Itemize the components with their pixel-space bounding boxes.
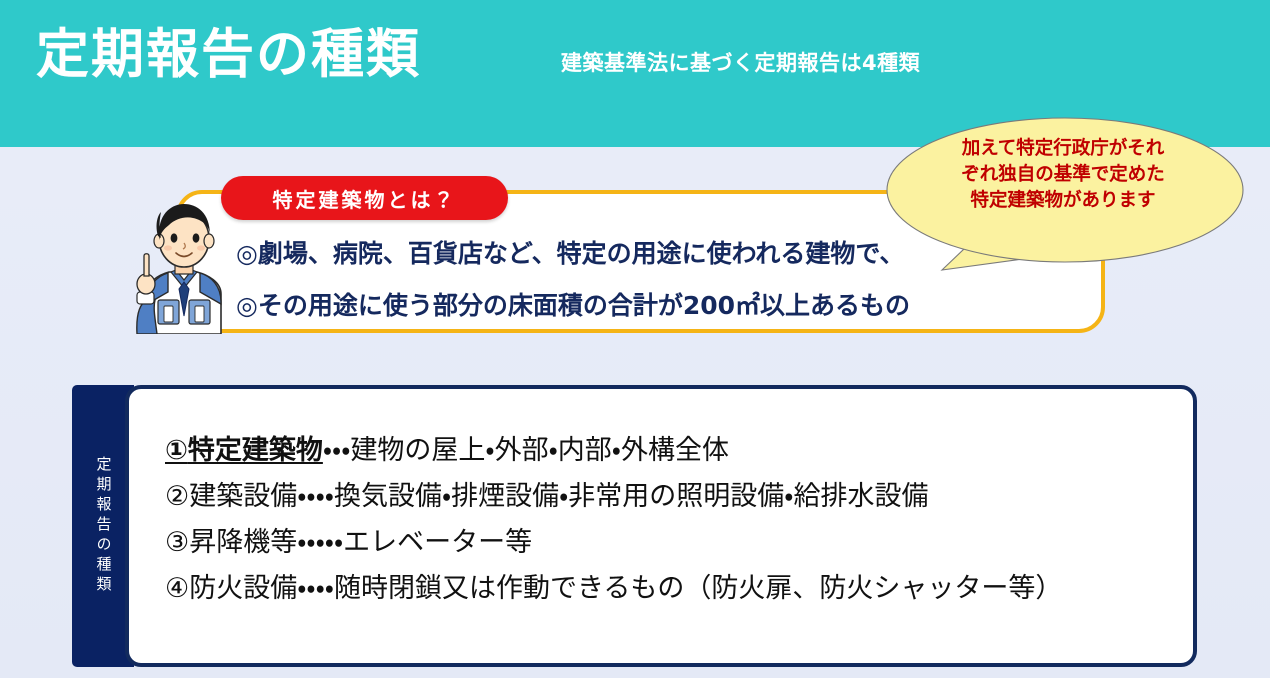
header-subtitle: 建築基準法に基づく定期報告は4種類 xyxy=(561,47,920,77)
report-types-list: ①特定建築物・・・建物の屋上・外部・内部・外構全体 ②建築設備・・・・換気設備・… xyxy=(165,428,1185,612)
list-item-number: ① xyxy=(165,435,188,466)
list-item: ③昇降機等・・・・・エレベーター等 xyxy=(165,520,1185,566)
list-item: ④防火設備・・・・随時閉鎖又は作動できるもの（防火扉、防火シャッター等） xyxy=(165,566,1185,612)
callout-line-1: 加えて特定行政庁がそれ xyxy=(910,136,1216,162)
list-item-rest: 建築設備・・・・換気設備・排煙設備・非常用の照明設備・給排水設備 xyxy=(189,481,928,512)
callout-bubble: 加えて特定行政庁がそれ ぞれ独自の基準で定めた 特定建築物があります xyxy=(880,108,1270,308)
definition-pill-label: 特定建築物とは？ xyxy=(221,176,508,220)
list-item: ①特定建築物・・・建物の屋上・外部・内部・外構全体 xyxy=(165,428,1185,474)
list-item-emphasis-text: 特定建築物 xyxy=(188,435,323,466)
callout-bubble-text: 加えて特定行政庁がそれ ぞれ独自の基準で定めた 特定建築物があります xyxy=(910,136,1216,214)
list-item: ②建築設備・・・・換気設備・排煙設備・非常用の照明設備・給排水設備 xyxy=(165,474,1185,520)
slide-canvas: 定期報告の種類 建築基準法に基づく定期報告は4種類 ◎劇場、病院、百貨店など、特… xyxy=(0,0,1270,678)
page-title: 定期報告の種類 xyxy=(36,22,421,88)
list-item-number: ② xyxy=(165,481,189,512)
callout-line-3: 特定建築物があります xyxy=(910,188,1216,214)
list-item-emphasis: ①特定建築物 xyxy=(165,435,323,466)
list-item-number: ③ xyxy=(165,527,189,558)
mascot-worker-icon xyxy=(131,196,235,334)
list-item-rest: 昇降機等・・・・・エレベーター等 xyxy=(189,527,532,558)
list-item-rest: 防火設備・・・・随時閉鎖又は作動できるもの（防火扉、防火シャッター等） xyxy=(189,573,1062,604)
list-item-number: ④ xyxy=(165,573,189,604)
callout-line-2: ぞれ独自の基準で定めた xyxy=(910,162,1216,188)
list-item-rest: ・・・建物の屋上・外部・内部・外構全体 xyxy=(323,435,729,466)
